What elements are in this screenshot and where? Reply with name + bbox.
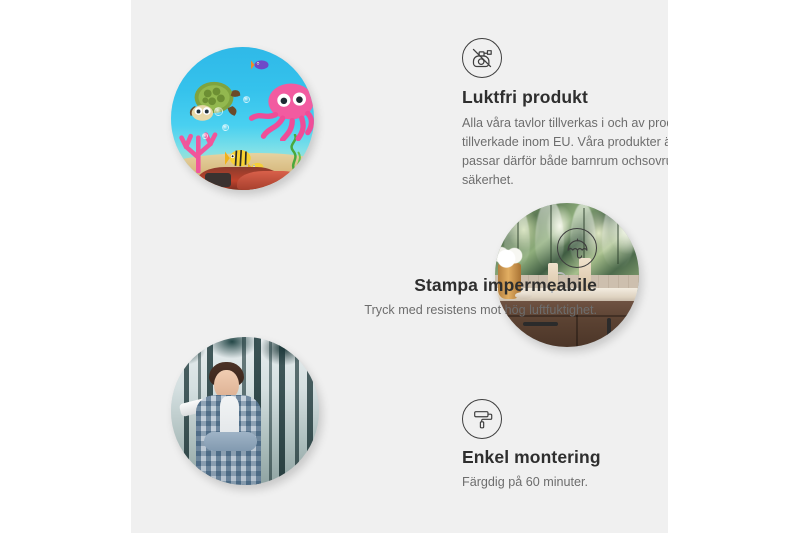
feature-odorless: Luktfri produkt Alla våra tavlor tillver… [462, 38, 668, 191]
underwater-kids-scene-disc [171, 47, 314, 190]
feature-description: Alla våra tavlor tillverkas i och av pro… [462, 114, 668, 191]
feature-description: Tryck med resistens mot hög luftfuktighe… [331, 301, 597, 320]
paint-roller-icon [462, 399, 502, 439]
promo-banner: Luktfri produkt Alla våra tavlor tillver… [0, 0, 800, 533]
bubble-icon [243, 96, 250, 103]
coral-icon [174, 127, 223, 173]
feature-description: Färgdig på 60 minuter. [462, 473, 668, 492]
sunken-box [205, 173, 231, 187]
feature-title: Enkel montering [462, 447, 668, 468]
feature-waterproof: Stampa impermeabile Tryck med resistens … [331, 228, 597, 320]
feature-title: Luktfri produkt [462, 87, 668, 108]
door-handle [607, 318, 611, 338]
umbrella-icon [557, 228, 597, 268]
bubble-icon [214, 107, 223, 116]
drawer-handle [523, 322, 557, 326]
woman-with-paint-roller-forest-disc [171, 337, 319, 485]
painter-artwork [171, 337, 319, 485]
content-canvas: Luktfri produkt Alla våra tavlor tillver… [131, 0, 668, 533]
feature-title: Stampa impermeabile [331, 275, 597, 296]
icon-wrapper [331, 228, 597, 268]
sea-rock-small [237, 171, 303, 190]
no-odor-spray-bottle-icon [462, 38, 502, 78]
turtle-icon [185, 76, 245, 125]
underwater-artwork [171, 47, 314, 190]
purple-fish-icon [251, 57, 271, 73]
octopus-icon [248, 81, 314, 141]
person-folded-arms [204, 432, 257, 451]
feature-assembly: Enkel montering Färgdig på 60 minuter. [462, 399, 668, 492]
